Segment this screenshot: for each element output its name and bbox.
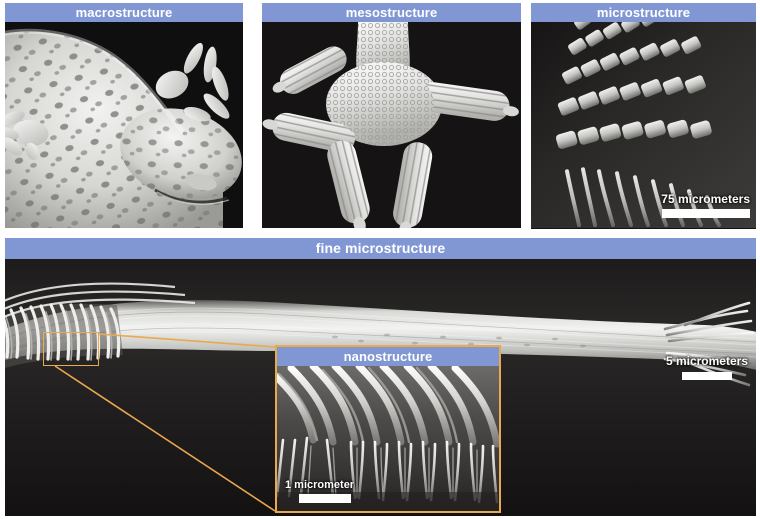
gecko-foot-photograph <box>262 22 521 228</box>
panel-image-microstructure: 75 micrometers <box>531 22 756 228</box>
gecko-photograph <box>5 22 243 228</box>
scalebar-rule-microstructure <box>662 209 750 218</box>
panel-title-fine-microstructure: fine microstructure <box>5 238 756 259</box>
panel-microstructure: microstructure <box>531 3 756 229</box>
scalebar-nanostructure: 1 micrometer <box>285 479 354 503</box>
panel-image-macrostructure <box>5 22 243 228</box>
gecko-hierarchy-figure: macrostructure <box>0 0 760 519</box>
callout-rectangle <box>43 332 99 366</box>
panel-header-nanostructure: nanostructure <box>277 347 499 366</box>
scalebar-label-nanostructure: 1 micrometer <box>285 479 354 491</box>
panel-image-nanostructure: 1 micrometer <box>277 366 499 511</box>
scalebar-label-fine-microstructure: 5 micrometers <box>666 354 748 368</box>
scalebar-label-microstructure: 75 micrometers <box>661 192 750 206</box>
panel-header-mesostructure: mesostructure <box>262 3 521 22</box>
panel-title-nanostructure: nanostructure <box>277 347 499 366</box>
panel-title-mesostructure: mesostructure <box>262 3 521 22</box>
panel-title-macrostructure: macrostructure <box>5 3 243 22</box>
panel-header-microstructure: microstructure <box>531 3 756 22</box>
panel-macrostructure: macrostructure <box>5 3 243 228</box>
scalebar-fine-microstructure: 5 micrometers <box>666 354 748 380</box>
panel-nanostructure: nanostructure <box>275 345 501 513</box>
panel-title-microstructure: microstructure <box>531 3 756 22</box>
panel-mesostructure: mesostructure <box>262 3 521 228</box>
scalebar-microstructure: 75 micrometers <box>661 192 750 218</box>
scalebar-rule-fine-microstructure <box>682 372 732 380</box>
panel-image-mesostructure <box>262 22 521 228</box>
scalebar-rule-nanostructure <box>299 494 351 503</box>
panel-header-macrostructure: macrostructure <box>5 3 243 22</box>
panel-header-fine-microstructure: fine microstructure <box>5 238 756 259</box>
